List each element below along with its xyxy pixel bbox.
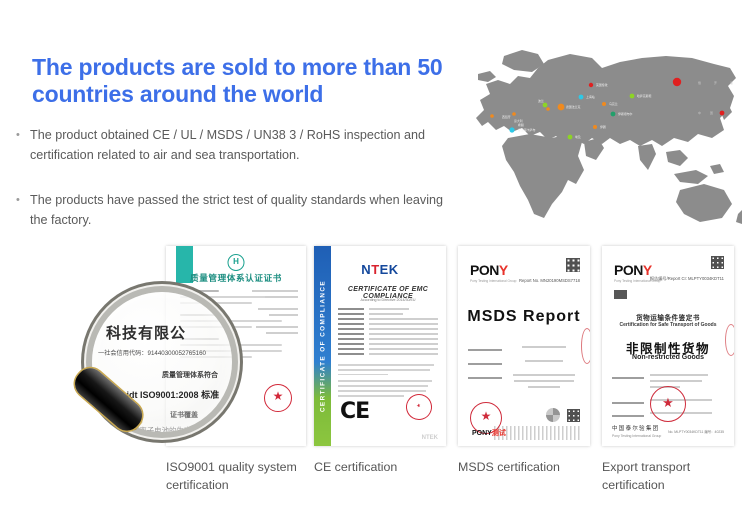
footer-company-cn: 中国泰尔验集团 bbox=[612, 424, 660, 432]
slide-page: The products are sold to more than 50 co… bbox=[0, 0, 750, 520]
svg-text:哈萨克斯坦: 哈萨克斯坦 bbox=[637, 93, 652, 98]
certificate-title-cn: 货物运输条件鉴定书 bbox=[602, 312, 734, 322]
page-title: The products are sold to more than 50 co… bbox=[32, 54, 452, 108]
svg-text:埃及: 埃及 bbox=[575, 134, 581, 139]
certificate-sidebar-text: CERTIFICATE OF COMPLIANCE bbox=[319, 280, 326, 412]
svg-text:乌克兰: 乌克兰 bbox=[609, 101, 618, 106]
svg-text:斯: 斯 bbox=[730, 80, 733, 85]
bullet-icon: • bbox=[16, 126, 30, 141]
certificate-title: MSDS Report bbox=[458, 308, 590, 326]
bullet-list: • The product obtained CE / UL / MSDS / … bbox=[16, 126, 446, 256]
certificate-sidebar: CERTIFICATE OF COMPLIANCE bbox=[314, 246, 331, 446]
pony-logo-subtitle: Pony Testing International Group bbox=[470, 279, 516, 283]
report-number: Report No. MN20190MSDS7718 bbox=[519, 278, 580, 283]
certificate-title-cn: 质量管理体系认证证书 bbox=[166, 272, 306, 284]
qr-code-icon bbox=[567, 409, 580, 422]
svg-text:西班牙: 西班牙 bbox=[502, 114, 511, 119]
certificate-item-export[interactable]: PONYPony Testing International Group 报告编… bbox=[602, 246, 734, 495]
ce-mark-icon: CE bbox=[340, 399, 369, 424]
bullet-icon: • bbox=[16, 191, 30, 206]
pony-logo-accent: Y bbox=[499, 262, 508, 278]
watermark: NTEK bbox=[422, 435, 438, 441]
svg-text:俄: 俄 bbox=[698, 80, 701, 85]
footer-brand-text: PONY bbox=[472, 430, 492, 437]
certificate-item-ce[interactable]: CERTIFICATE OF COMPLIANCE NTEK CERTIFICA… bbox=[314, 246, 446, 477]
bullet-text: The products have passed the strict test… bbox=[30, 191, 446, 230]
report-number: 报告编号/Report CI: MLPTY0034KDT11 bbox=[650, 276, 724, 282]
certificate-footer-line bbox=[166, 436, 306, 438]
ship-icon bbox=[614, 290, 627, 299]
svg-text:伊朗: 伊朗 bbox=[600, 124, 606, 129]
certificate-image-ce[interactable]: CERTIFICATE OF COMPLIANCE NTEK CERTIFICA… bbox=[314, 246, 446, 446]
pony-logo: PONYPony Testing International Group bbox=[470, 262, 516, 283]
certificate-item-iso9001[interactable]: H 质量管理体系认证证书 bbox=[166, 246, 306, 495]
qr-code-icon bbox=[711, 256, 724, 269]
certificate-title-en: Certification for Safe Transport of Good… bbox=[602, 322, 734, 328]
footer-report-no: No. MLPTY0034KDT11 编号：40235 bbox=[668, 429, 724, 434]
svg-text:波兰: 波兰 bbox=[538, 98, 544, 103]
certificate-caption: MSDS certification bbox=[458, 459, 590, 477]
red-seal-icon: ★ bbox=[264, 384, 292, 412]
svg-text:中: 中 bbox=[698, 110, 701, 115]
gear-seal-icon bbox=[546, 408, 560, 422]
svg-text:德国法兰克: 德国法兰克 bbox=[566, 104, 581, 109]
cqc-logo-icon: H bbox=[228, 254, 245, 271]
bullet-text: The product obtained CE / UL / MSDS / UN… bbox=[30, 126, 446, 165]
certificate-image-export[interactable]: PONYPony Testing International Group 报告编… bbox=[602, 246, 734, 446]
qr-code-icon bbox=[566, 258, 580, 272]
barcode-strip bbox=[494, 426, 580, 440]
footer-brand: PONY测试 bbox=[472, 428, 506, 438]
certificate-detail-rows bbox=[338, 308, 438, 358]
edge-seal-icon bbox=[725, 324, 734, 356]
footer-brand-accent: 测试 bbox=[492, 430, 506, 437]
certificate-detail-rows bbox=[468, 346, 580, 400]
pony-logo-text: PON bbox=[470, 262, 499, 278]
world-map: 英国伦敦 上海站 波兰 德国法兰克 乌克兰 哈萨克斯坦 伊斯坦布尔 伊朗 摩洛哥… bbox=[452, 34, 742, 234]
certificate-caption: ISO9001 quality system certification bbox=[166, 459, 306, 495]
list-item: • The product obtained CE / UL / MSDS / … bbox=[16, 126, 446, 165]
ntek-logo-n: N bbox=[361, 262, 371, 277]
certificate-subtitle: According to Directive 2014/30/EU bbox=[338, 298, 438, 302]
certificate-image-msds[interactable]: PONYPony Testing International Group Rep… bbox=[458, 246, 590, 446]
svg-text:希腊: 希腊 bbox=[518, 122, 524, 127]
list-item: • The products have passed the strict te… bbox=[16, 191, 446, 230]
certificate-item-msds[interactable]: PONYPony Testing International Group Rep… bbox=[458, 246, 590, 477]
edge-seal-icon bbox=[581, 328, 590, 364]
map-landmasses bbox=[476, 50, 742, 224]
svg-text:英国伦敦: 英国伦敦 bbox=[596, 82, 608, 87]
certificate-side-lines bbox=[252, 290, 298, 338]
certificate-image-iso9001[interactable]: H 质量管理体系认证证书 bbox=[166, 246, 306, 446]
red-seal-icon: ★ bbox=[650, 386, 686, 422]
certificate-gallery: H 质量管理体系认证证书 bbox=[0, 246, 750, 520]
pony-logo-text: PON bbox=[614, 262, 643, 278]
certificate-caption: CE certification bbox=[314, 459, 446, 477]
certificate-result-en: Non-restricted Goods bbox=[602, 354, 734, 361]
ntek-logo: NTEK bbox=[361, 262, 398, 277]
svg-text:国: 国 bbox=[710, 110, 713, 115]
certificate-caption: Export transport certification bbox=[602, 459, 734, 495]
svg-text:摩洛哥卡萨布: 摩洛哥卡萨布 bbox=[518, 127, 535, 132]
svg-text:伊斯坦布尔: 伊斯坦布尔 bbox=[618, 111, 633, 116]
svg-text:上海站: 上海站 bbox=[586, 94, 595, 99]
footer-company-en: Pony Testing International Group bbox=[612, 434, 661, 438]
svg-text:罗: 罗 bbox=[714, 81, 717, 85]
ntek-logo-ek: EK bbox=[380, 262, 399, 277]
